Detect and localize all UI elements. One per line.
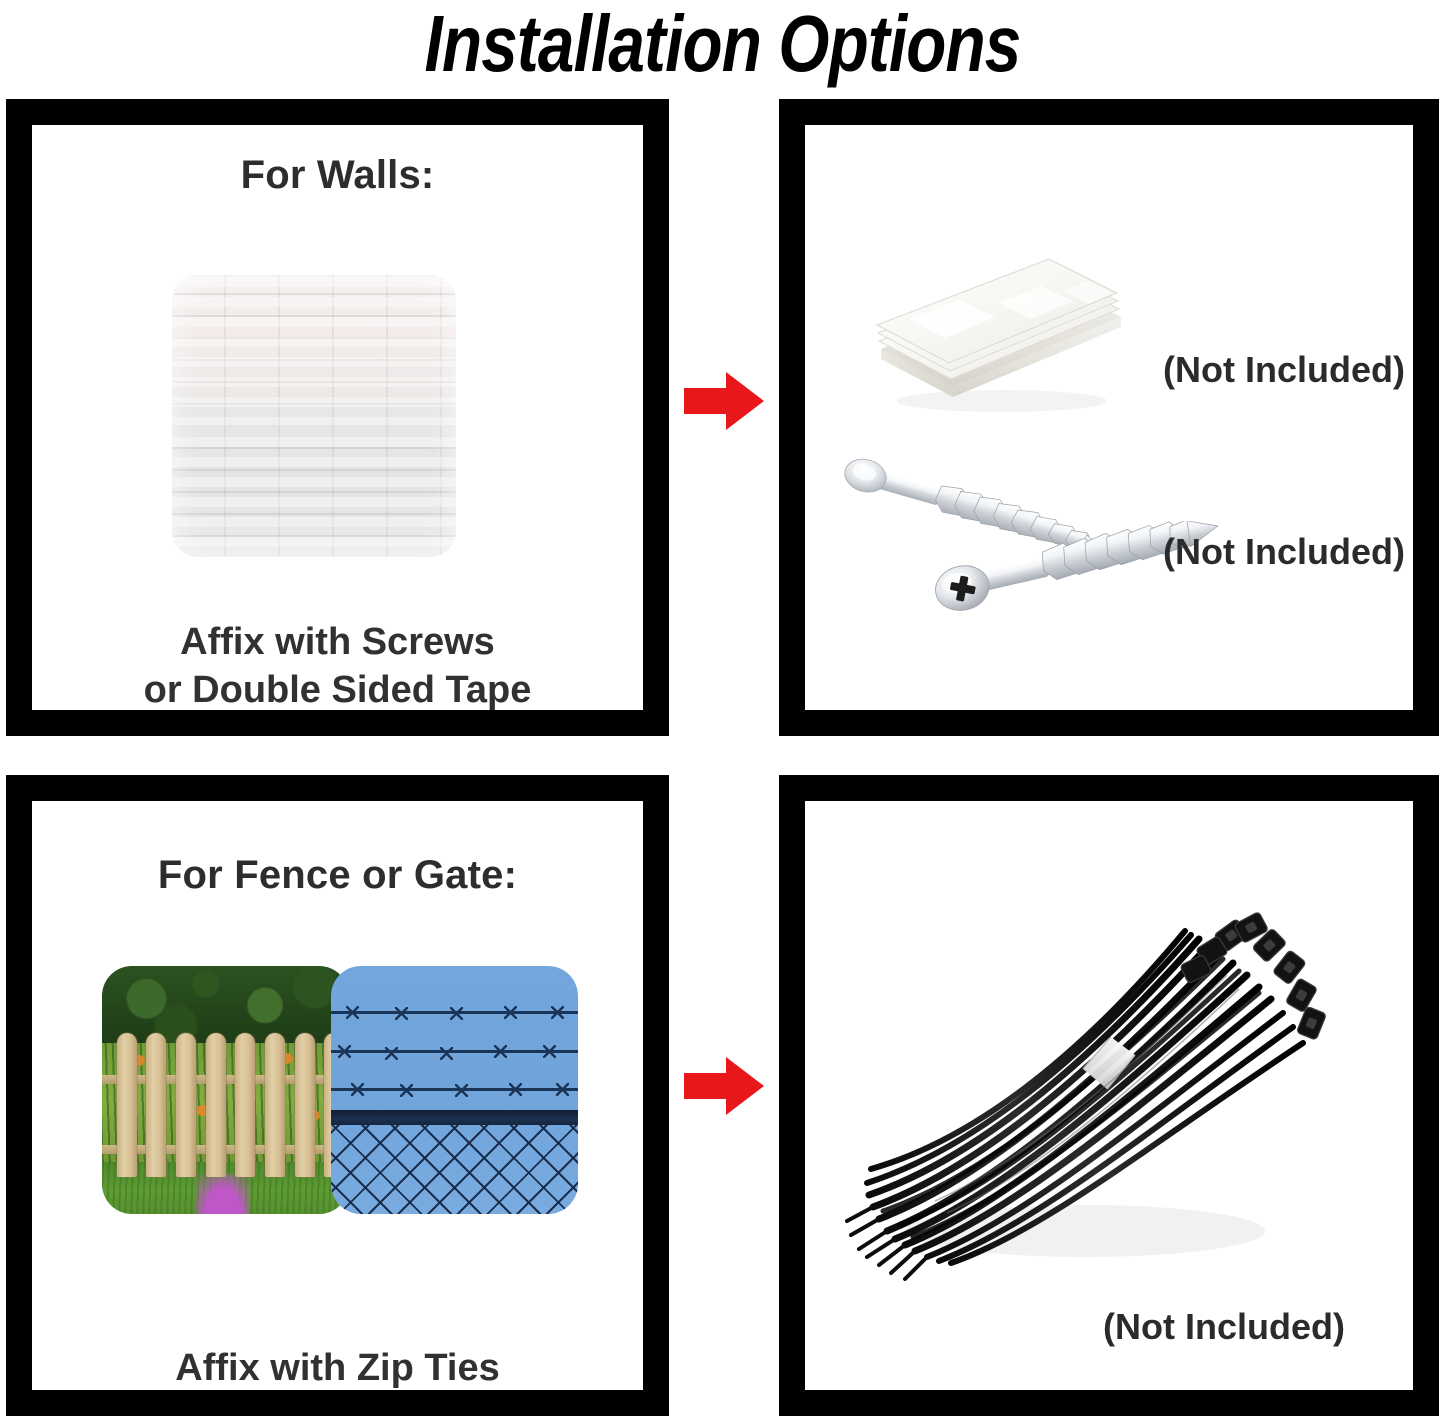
chain-link-barbed-wire-fence-image — [331, 966, 578, 1214]
red-right-arrow-icon-bottom — [684, 1057, 764, 1115]
caption-affix-with-zip-ties: Affix with Zip Ties — [32, 1347, 643, 1390]
panel-for-walls: For Walls: Affix with Screws or Double S… — [6, 99, 669, 736]
panel-for-walls-inner: For Walls: Affix with Screws or Double S… — [32, 125, 643, 710]
red-right-arrow-icon — [684, 372, 764, 430]
panel-fence-hardware-inner: (Not Included) — [805, 801, 1413, 1390]
tape-not-included-label: (Not Included) — [1163, 349, 1405, 391]
black-zip-ties-bundle-image — [835, 901, 1335, 1301]
panel-wall-hardware-inner: (Not Included) — [805, 125, 1413, 710]
wooden-picket-fence-image — [102, 966, 349, 1214]
panel-fence-hardware: (Not Included) — [779, 775, 1439, 1416]
heading-for-fence-or-gate: For Fence or Gate: — [32, 853, 643, 898]
white-brick-wall-image — [172, 275, 456, 557]
caption-or-double-sided-tape: or Double Sided Tape — [32, 669, 643, 710]
panel-for-fence-or-gate-inner: For Fence or Gate: — [32, 801, 643, 1390]
caption-affix-with-screws: Affix with Screws — [32, 621, 643, 664]
screws-not-included-label: (Not Included) — [1163, 531, 1405, 573]
installation-options-infographic: Installation Options For Walls: Affix wi… — [0, 0, 1445, 1422]
heading-for-walls: For Walls: — [32, 153, 643, 198]
panel-wall-hardware: (Not Included) — [779, 99, 1439, 736]
double-sided-tape-stack-image — [867, 245, 1127, 420]
page-title: Installation Options — [130, 0, 1315, 90]
panel-for-fence-or-gate: For Fence or Gate: — [6, 775, 669, 1416]
zip-ties-not-included-label: (Not Included) — [1103, 1306, 1345, 1348]
